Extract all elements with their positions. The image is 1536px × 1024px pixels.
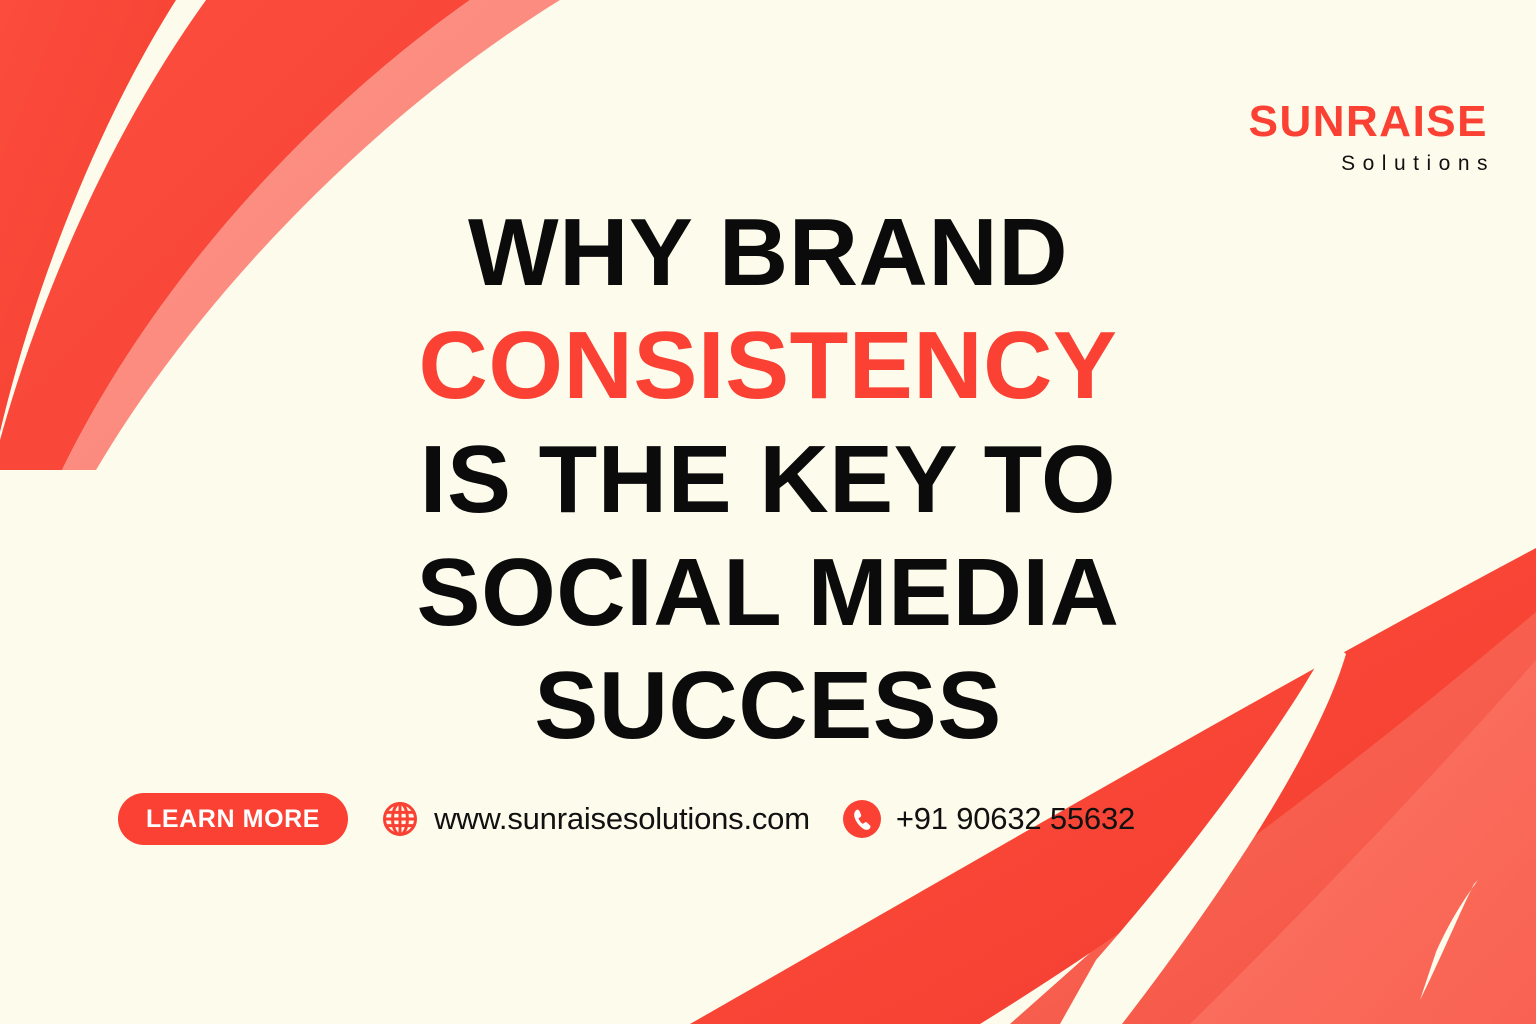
logo-subtitle: Solutions [1249, 153, 1495, 174]
headline-line-2-accent: CONSISTENCY [0, 309, 1536, 422]
headline-line-4: SOCIAL MEDIA [0, 536, 1536, 649]
headline-line-3: IS THE KEY TO [0, 423, 1536, 536]
logo-brand-name: SUNRAISE [1249, 100, 1488, 144]
page-title: WHY BRAND CONSISTENCY IS THE KEY TO SOCI… [0, 196, 1536, 762]
website-contact[interactable]: www.sunraisesolutions.com [380, 799, 810, 839]
headline-line-5: SUCCESS [0, 649, 1536, 762]
promo-banner: SUNRAISE Solutions WHY BRAND CONSISTENCY… [0, 0, 1536, 1024]
phone-contact[interactable]: +91 90632 55632 [842, 799, 1135, 839]
learn-more-button[interactable]: LEARN MORE [118, 793, 348, 845]
globe-icon [380, 799, 420, 839]
headline-line-1: WHY BRAND [0, 196, 1536, 309]
phone-number: +91 90632 55632 [896, 801, 1135, 837]
phone-icon [842, 799, 882, 839]
logo: SUNRAISE Solutions [1249, 100, 1488, 174]
swoosh-cream-sliver [1420, 880, 1478, 1000]
website-url: www.sunraisesolutions.com [434, 801, 810, 837]
footer-contact-bar: LEARN MORE www.sunraisesolutions.com [118, 790, 1135, 848]
